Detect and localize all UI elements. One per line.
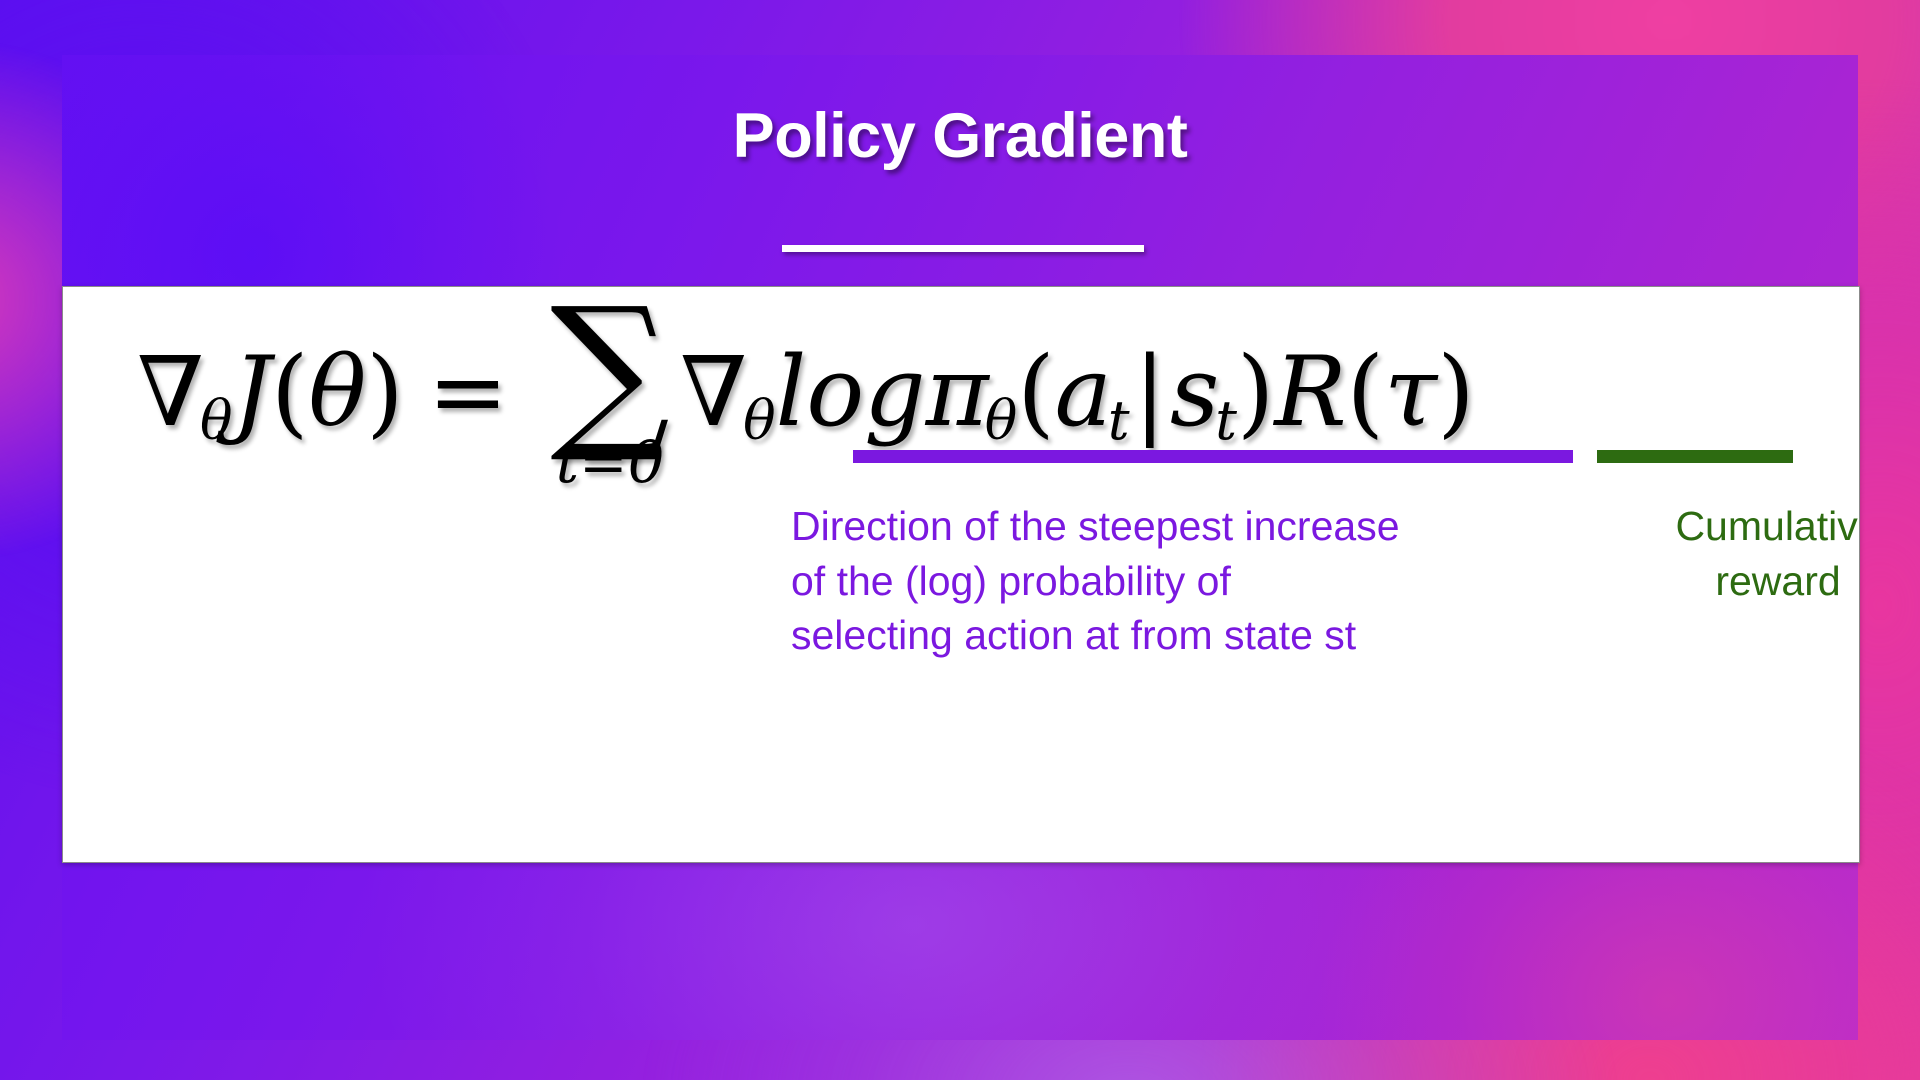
formula-action: a — [1055, 336, 1112, 448]
formula-nabla-lhs-subscript: θ — [200, 389, 233, 452]
formula-reward-open-paren: ( — [1347, 336, 1384, 448]
purple-annotation: Direction of the steepest increase of th… — [791, 499, 1631, 663]
formula-policy-open-paren: ( — [1017, 336, 1054, 448]
content-card: ∇θJ(θ)=∑t=0∇θlogπθ(at|st)R(τ) Direction … — [62, 286, 1860, 863]
green-annotation-line-2: reward — [1628, 554, 1860, 609]
title-divider — [782, 245, 1144, 252]
formula-nabla-grad-log-subscript: θ — [743, 389, 776, 452]
summation-sigma-icon: ∑ — [550, 301, 670, 439]
policy-gradient-formula: ∇θJ(θ)=∑t=0∇θlogπθ(at|st)R(τ) — [137, 301, 1475, 448]
formula-log: log — [776, 336, 926, 448]
formula-reward-close-paren: ) — [1437, 336, 1474, 448]
slide: Policy Gradient ∇θJ(θ)=∑t=0∇θlogπθ(at|st… — [0, 0, 1920, 1080]
purple-underline — [853, 450, 1573, 463]
formula-summation: ∑t=0 — [550, 301, 670, 439]
formula-equals-sign: = — [428, 336, 508, 448]
green-annotation: Cumulative reward — [1628, 499, 1860, 608]
formula-lhs-theta: θ — [308, 336, 366, 448]
formula-lhs-open-paren: ( — [271, 336, 308, 448]
formula-nabla-grad-log: ∇ — [680, 336, 747, 448]
formula-pi-subscript: θ — [985, 389, 1018, 452]
purple-annotation-line-3: selecting action at from state st — [791, 608, 1631, 663]
purple-annotation-line-1: Direction of the steepest increase — [791, 499, 1631, 554]
formula-lhs-close-paren: ) — [366, 336, 403, 448]
formula-pi: π — [926, 336, 989, 448]
formula-nabla-lhs: ∇ — [137, 336, 204, 448]
green-underline — [1597, 450, 1793, 463]
page-title-text: Policy Gradient — [733, 100, 1188, 172]
formula-action-subscript: t — [1108, 389, 1130, 452]
formula-policy-close-paren: ) — [1237, 336, 1274, 448]
formula-tau: τ — [1384, 336, 1437, 448]
green-annotation-line-1: Cumulative — [1628, 499, 1860, 554]
formula-objective-j: J — [233, 336, 271, 448]
formula-conditional-bar: | — [1134, 336, 1166, 448]
formula-state-subscript: t — [1215, 389, 1237, 452]
formula-reward-r: R — [1274, 336, 1346, 448]
page-title: Policy Gradient — [0, 100, 1920, 172]
formula-state: s — [1170, 336, 1219, 448]
summation-lower-limit: t=0 — [556, 433, 665, 491]
purple-annotation-line-2: of the (log) probability of — [791, 554, 1631, 609]
